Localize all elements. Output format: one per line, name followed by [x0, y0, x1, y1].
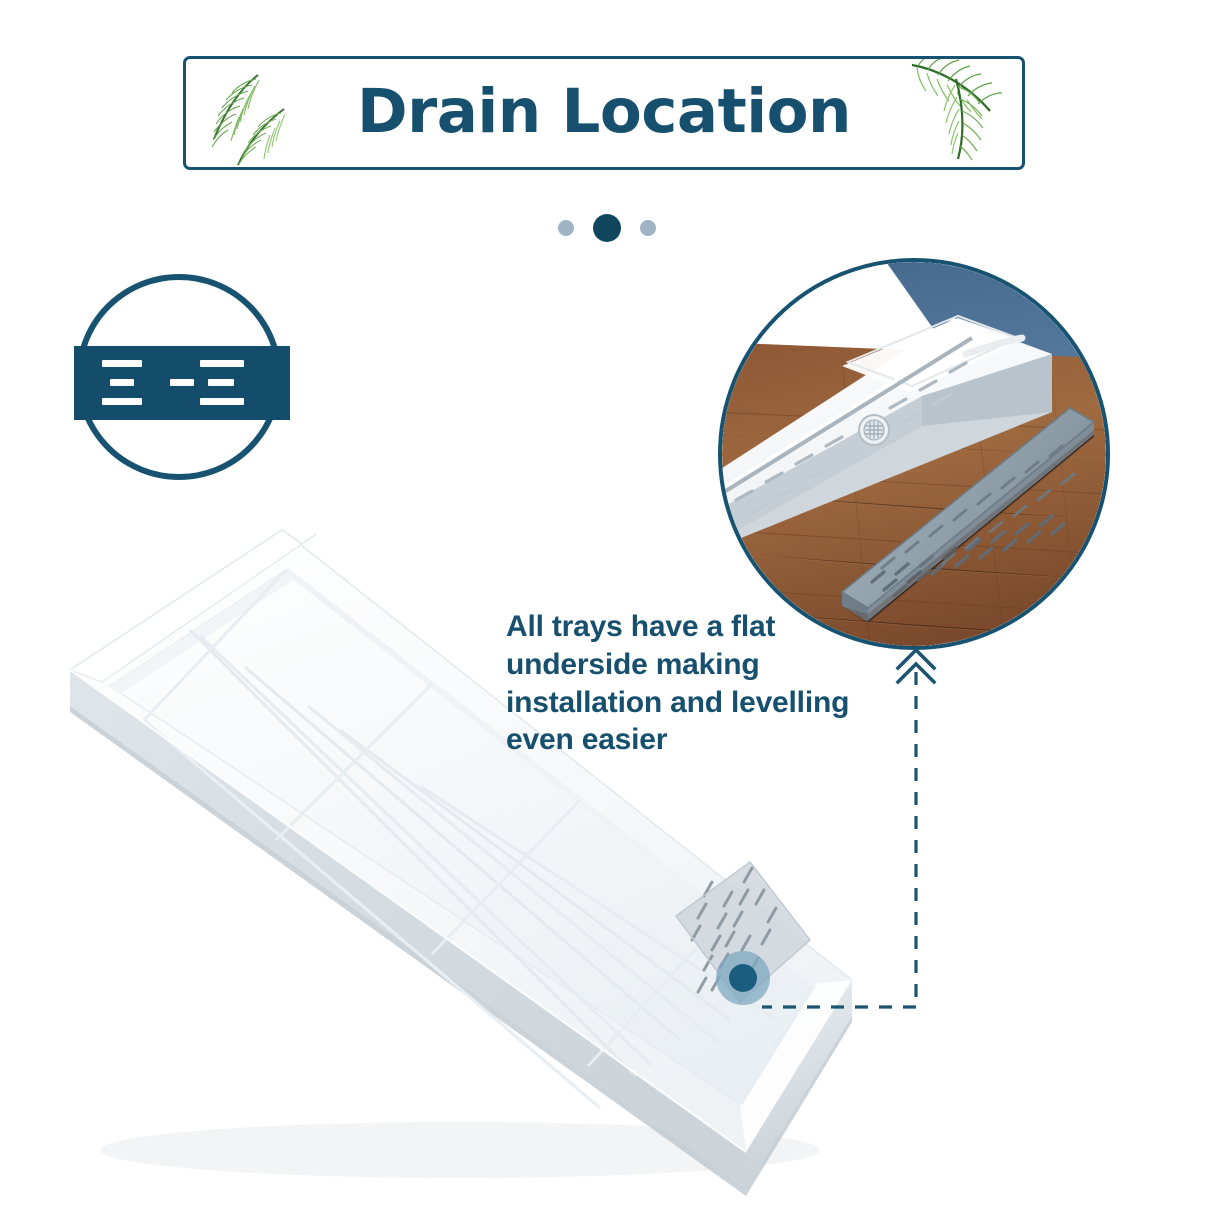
title-banner: Drain Location — [183, 56, 1025, 170]
palm-frond-icon — [188, 69, 308, 170]
drain-grate-badge — [76, 274, 282, 480]
pagination-dot-2-active[interactable] — [593, 214, 621, 242]
pagination-dot-1[interactable] — [558, 220, 574, 236]
linear-drain-grate-icon — [74, 346, 290, 420]
page-title: Drain Location — [357, 81, 851, 142]
callout-text: All trays have a flat underside making i… — [506, 608, 906, 759]
drain-location-marker — [716, 951, 770, 1005]
infographic-canvas: Drain Location — [0, 0, 1214, 1214]
pagination-dots[interactable] — [0, 214, 1214, 242]
pagination-dot-3[interactable] — [640, 220, 656, 236]
palm-frond-icon — [898, 56, 1025, 167]
